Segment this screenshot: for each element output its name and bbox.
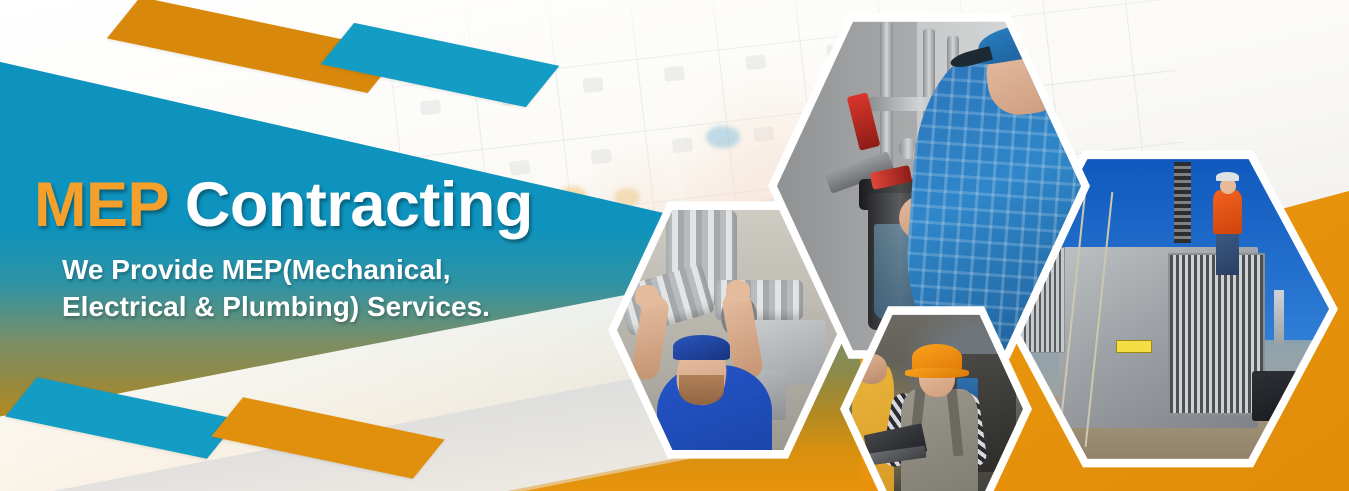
headline-accent-word: MEP (34, 170, 168, 240)
hexagon-engineer-inner (849, 311, 1023, 491)
page-title: MEP Contracting (34, 174, 533, 237)
mep-contracting-hero-banner: MEP Contracting We Provide MEP(Mechanica… (0, 0, 1349, 491)
engineer-with-laptop-photo (849, 311, 1023, 491)
subtitle-line-1: We Provide MEP(Mechanical, (62, 252, 602, 289)
headline-rest-word: Contracting (168, 170, 533, 240)
subtitle-line-2: Electrical & Plumbing) Services. (62, 289, 602, 326)
page-subtitle: We Provide MEP(Mechanical, Electrical & … (62, 252, 602, 326)
